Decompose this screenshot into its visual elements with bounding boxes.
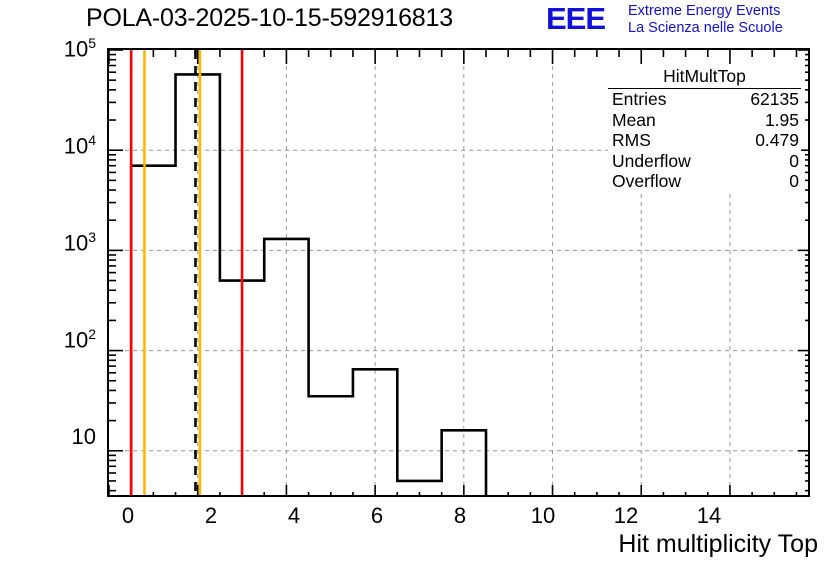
- x-tick-label-0: 0: [112, 503, 144, 529]
- stats-row-underflow: Underflow 0: [608, 151, 801, 172]
- stats-box: HitMultTop Entries 62135 Mean 1.95 RMS 0…: [608, 66, 801, 192]
- page-title: POLA-03-2025-10-15-592916813: [86, 4, 453, 33]
- x-tick-label-6: 6: [361, 503, 393, 529]
- stats-label-entries: Entries: [612, 89, 666, 110]
- x-tick-label-14: 14: [693, 503, 725, 529]
- y-tick-label-1e4: 104: [34, 132, 96, 159]
- stats-value-mean: 1.95: [765, 110, 799, 131]
- stats-value-entries: 62135: [750, 89, 799, 110]
- y-tick-label-1e5: 105: [34, 35, 96, 62]
- stats-label-overflow: Overflow: [612, 171, 681, 192]
- eee-logo-line2: La Scienza nelle Scuole: [628, 20, 783, 37]
- stats-row-mean: Mean 1.95: [608, 110, 801, 131]
- x-axis-title: Hit multiplicity Top: [618, 530, 818, 559]
- stats-value-underflow: 0: [789, 151, 799, 172]
- stats-row-overflow: Overflow 0: [608, 171, 801, 192]
- x-tick-label-10: 10: [527, 503, 559, 529]
- stats-row-rms: RMS 0.479: [608, 130, 801, 151]
- x-tick-label-12: 12: [610, 503, 642, 529]
- eee-logo-line1: Extreme Energy Events: [628, 3, 783, 20]
- y-tick-label-1e2: 102: [34, 326, 96, 353]
- eee-logo-text: Extreme Energy Events La Scienza nelle S…: [628, 3, 783, 37]
- stats-label-rms: RMS: [612, 130, 651, 151]
- stats-label-mean: Mean: [612, 110, 656, 131]
- stats-value-rms: 0.479: [755, 130, 799, 151]
- y-tick-label-1e1: 10: [34, 424, 96, 450]
- stats-title: HitMultTop: [608, 66, 801, 89]
- stats-value-overflow: 0: [789, 171, 799, 192]
- root-canvas: POLA-03-2025-10-15-592916813 EEE Extreme…: [0, 0, 836, 572]
- x-tick-label-2: 2: [195, 503, 227, 529]
- y-tick-label-1e3: 103: [34, 229, 96, 256]
- stats-row-entries: Entries 62135: [608, 89, 801, 110]
- x-tick-label-8: 8: [444, 503, 476, 529]
- eee-logo: EEE Extreme Energy Events La Scienza nel…: [546, 2, 832, 42]
- stats-label-underflow: Underflow: [612, 151, 691, 172]
- x-tick-label-4: 4: [278, 503, 310, 529]
- eee-logo-mark: EEE: [546, 3, 605, 34]
